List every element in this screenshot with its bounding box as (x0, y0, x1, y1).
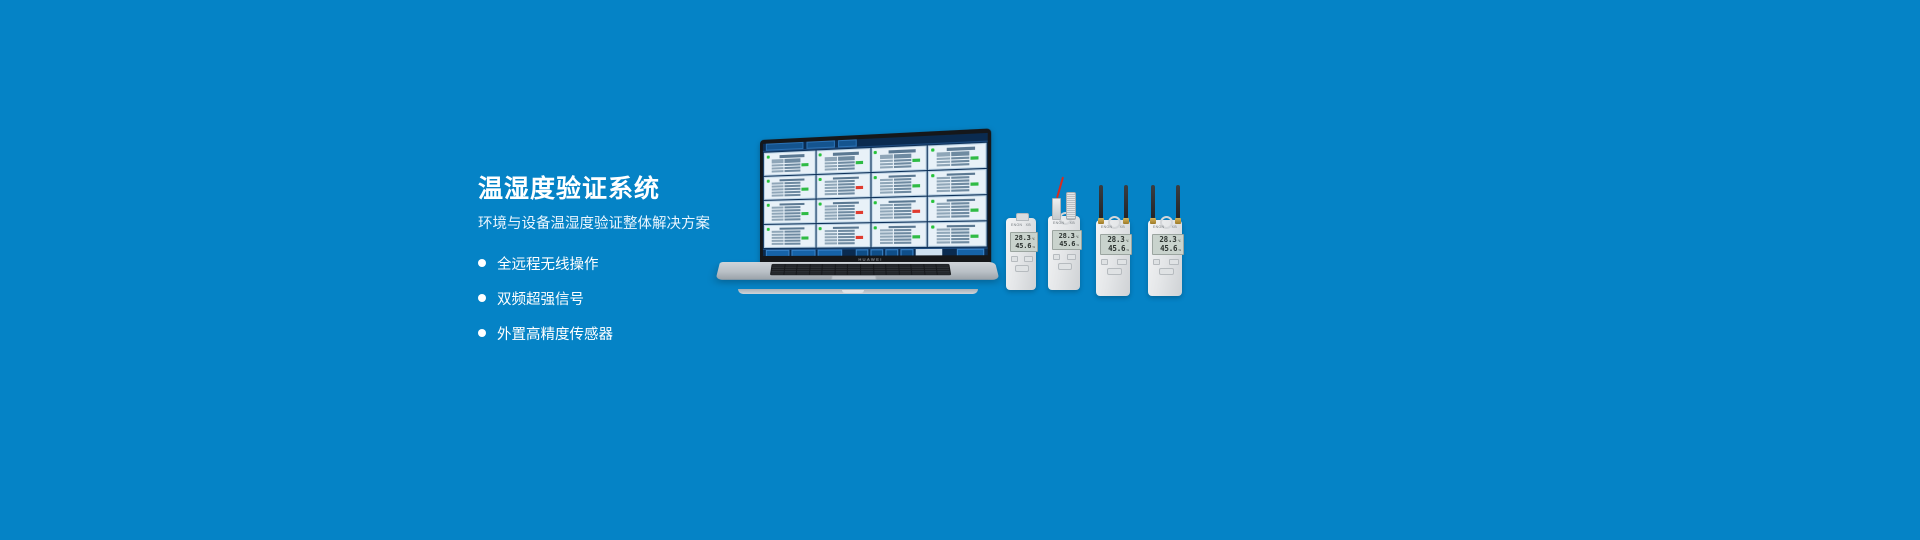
dual-antenna-logger-1[interactable]: ENON XB 28.3 ℃ 45.6 % (1096, 220, 1130, 296)
sensor-row-value (838, 239, 855, 241)
status-led-icon (766, 180, 769, 183)
keyboard-key[interactable] (912, 273, 924, 275)
status-led-icon (931, 148, 934, 151)
sensor-card-row (824, 236, 867, 239)
lcd-humidity-unit: % (1126, 249, 1129, 252)
sensor-card-row (937, 215, 984, 218)
sensor-card-row (937, 163, 984, 167)
status-badge (971, 235, 979, 238)
device-brand-right: XB (1026, 223, 1031, 227)
device-brand-right: XB (1172, 225, 1177, 229)
sensor-row-value (784, 237, 800, 239)
sensor-card-title (888, 226, 915, 229)
keyboard-key[interactable] (810, 273, 822, 275)
sensor-card-row (824, 242, 867, 244)
sensor-row-value (838, 193, 855, 196)
sensor-row-label (772, 219, 784, 221)
sensor-row-label (824, 193, 836, 195)
dual-antenna-logger-2[interactable]: ENON XB 28.3 ℃ 45.6 % (1148, 220, 1182, 296)
antenna-icon (1099, 185, 1103, 219)
sensor-row-label (879, 191, 892, 193)
sensor-card[interactable] (816, 223, 870, 247)
lcd-humidity-unit: % (1076, 244, 1079, 247)
sensor-card-row (937, 235, 984, 238)
sensor-row-label (772, 243, 784, 245)
sensor-row-value (951, 206, 969, 209)
sensor-row-label (879, 166, 892, 169)
sensor-row-value (951, 229, 969, 231)
sensor-row-label (879, 160, 892, 163)
lcd-temperature-line: 28.3 ℃ (1155, 235, 1181, 244)
device-button-right[interactable] (1169, 259, 1179, 265)
sensor-row-value (784, 243, 800, 245)
sensor-row-value (951, 232, 969, 234)
laptop-base (720, 262, 995, 296)
sensor-row-value (893, 207, 910, 209)
sensor-card[interactable] (764, 224, 815, 248)
device-lcd-display: 28.3 ℃ 45.6 % (1100, 234, 1132, 255)
sensor-card-row (879, 216, 924, 219)
sensor-row-label (937, 180, 950, 183)
device-brand-left: ENON (1153, 225, 1164, 229)
sensor-row-value (893, 165, 910, 168)
device-button-center[interactable] (1107, 268, 1122, 275)
lcd-temperature-line: 28.3 ℃ (1055, 232, 1079, 240)
sensor-row-label (879, 236, 892, 238)
sensor-row-value (893, 232, 910, 234)
status-led-icon (874, 201, 877, 204)
keyboard-key[interactable] (900, 273, 912, 275)
status-badge (912, 210, 920, 213)
sensor-row-label (772, 231, 784, 233)
sensor-card-row (772, 194, 814, 197)
status-led-icon (766, 204, 769, 207)
sensor-card-row (937, 189, 984, 192)
sensor-card-row (824, 217, 867, 220)
sensor-row-label (772, 164, 784, 166)
sensor-row-value (951, 241, 969, 243)
sensor-row-label (937, 235, 950, 237)
laptop-deck (716, 262, 1000, 280)
sensor-row-label (879, 182, 892, 185)
sensor-row-value (893, 210, 910, 212)
device-button-center[interactable] (1159, 268, 1174, 275)
device-button-left[interactable] (1153, 259, 1160, 265)
lcd-humidity-unit: % (1178, 249, 1181, 252)
device-brand-row: ENON XB (1148, 225, 1182, 229)
sensor-row-label (937, 164, 950, 167)
status-badge (855, 186, 862, 189)
sensor-row-label (879, 211, 892, 213)
toolbar-action-group[interactable] (838, 139, 857, 147)
sensor-card[interactable] (816, 198, 870, 223)
laptop-bezel (763, 133, 988, 256)
sensor-row-label (824, 168, 836, 171)
status-badge (912, 159, 920, 162)
sensor-row-value (784, 240, 800, 242)
device-button-center[interactable] (1058, 263, 1072, 270)
lcd-humidity-value: 45.6 (1108, 244, 1125, 253)
lcd-temperature-line: 28.3 ℃ (1013, 234, 1035, 242)
status-badge (971, 208, 979, 211)
sensor-card-row (937, 241, 984, 244)
sensor-row-label (772, 234, 784, 236)
device-button-left[interactable] (1053, 254, 1060, 260)
list-item: 外置高精度传感器 (478, 323, 818, 344)
device-brand-left: ENON (1011, 223, 1022, 227)
sensor-card-title (888, 200, 915, 203)
status-badge (801, 237, 808, 240)
sensor-row-value (951, 209, 969, 212)
lcd-temperature-unit: ℃ (1032, 238, 1035, 241)
device-brand-row: ENON XB (1006, 223, 1036, 227)
sensor-row-value (784, 234, 800, 236)
sensor-card-row (879, 235, 924, 238)
sensor-card[interactable] (871, 222, 927, 247)
sensor-row-label (824, 218, 836, 220)
sensor-row-value (893, 185, 910, 188)
sensor-row-label (879, 185, 892, 187)
sensor-row-label (937, 232, 950, 234)
status-led-icon (819, 178, 822, 181)
sensor-card-row (772, 236, 814, 239)
bullet-dot-icon (478, 259, 486, 267)
sensor-row-label (824, 240, 836, 242)
sensor-card-row (772, 243, 814, 245)
lcd-humidity-line: 45.6 % (1155, 244, 1181, 253)
keyboard-key[interactable] (797, 273, 809, 275)
keyboard-key[interactable] (887, 273, 899, 275)
sensor-row-label (824, 236, 836, 238)
keyboard-key[interactable] (771, 273, 783, 275)
sensor-row-label (937, 209, 950, 211)
sensor-row-value (838, 236, 855, 238)
lcd-temperature-value: 28.3 (1059, 232, 1075, 240)
sensor-row-value (784, 212, 800, 214)
device-brand-row: ENON XB (1096, 225, 1130, 229)
device-lcd-display: 28.3 ℃ 45.6 % (1010, 232, 1038, 252)
device-button-left[interactable] (1011, 256, 1018, 262)
sensor-row-value (893, 242, 910, 244)
sensor-card-row (772, 218, 814, 221)
status-badge (971, 156, 979, 159)
sensor-card[interactable] (871, 171, 927, 197)
sensor-card-row (772, 169, 814, 173)
status-badge (971, 182, 979, 185)
lcd-humidity-value: 45.6 (1015, 242, 1031, 250)
sensor-row-value (838, 211, 855, 213)
sensor-row-value (784, 209, 800, 211)
sensor-card-title (780, 227, 805, 230)
status-badge (855, 161, 862, 164)
sensor-card-title (946, 199, 974, 202)
lcd-humidity-line: 45.6 % (1103, 244, 1129, 253)
status-led-icon (874, 226, 877, 229)
lcd-humidity-line: 45.6 % (1013, 242, 1035, 250)
sensor-card[interactable] (816, 148, 870, 174)
status-led-icon (766, 156, 769, 159)
sensor-row-value (951, 215, 969, 217)
sensor-card[interactable] (928, 143, 986, 170)
sensor-row-label (824, 184, 836, 186)
bullet-dot-icon (478, 329, 486, 337)
sensor-row-label (937, 229, 950, 231)
sensor-card-row (824, 167, 867, 171)
sensor-row-label (937, 184, 950, 187)
device-brand-left: ENON (1101, 225, 1112, 229)
status-led-icon (931, 174, 934, 177)
sensor-row-label (937, 206, 950, 208)
sensor-row-label (772, 186, 784, 188)
lcd-temperature-unit: ℃ (1076, 236, 1079, 239)
sensor-card-title (833, 226, 859, 229)
laptop-illustration: HUAWEI (720, 140, 995, 300)
status-led-icon (819, 227, 822, 230)
sensor-row-value (784, 218, 800, 220)
status-led-icon (931, 200, 934, 203)
device-brand-left: ENON (1053, 221, 1064, 225)
laptop-trackpad[interactable] (831, 275, 876, 280)
sensor-row-label (772, 240, 784, 242)
sensor-row-value (784, 188, 800, 191)
status-led-icon (819, 153, 822, 156)
monitoring-app-screen (763, 133, 988, 256)
status-badge (801, 163, 808, 166)
sensor-row-label (937, 190, 950, 193)
status-badge (912, 235, 920, 238)
sensor-row-label (824, 209, 836, 211)
sensor-row-label (824, 233, 836, 235)
sensor-row-value (951, 189, 969, 192)
sensor-card-grid (763, 142, 988, 249)
sensor-device-group: ENON XB 28.3 ℃ 45.6 % ENON (1000, 180, 1230, 310)
status-led-icon (819, 202, 822, 205)
sensor-row-value (784, 194, 800, 196)
device-button-left[interactable] (1101, 259, 1108, 265)
lcd-temperature-unit: ℃ (1178, 240, 1181, 243)
lcd-temperature-line: 28.3 ℃ (1103, 235, 1129, 244)
sensor-row-label (879, 230, 892, 232)
lcd-temperature-value: 28.3 (1107, 235, 1124, 244)
sensor-card[interactable] (764, 175, 815, 200)
device-lcd-display: 28.3 ℃ 45.6 % (1152, 234, 1184, 255)
sensor-card[interactable] (764, 151, 815, 176)
sensor-row-value (838, 233, 855, 235)
sensor-card[interactable] (928, 169, 986, 196)
device-lcd-display: 28.3 ℃ 45.6 % (1052, 230, 1082, 250)
status-led-icon (874, 176, 877, 179)
status-led-icon (931, 225, 934, 228)
keyboard-key[interactable] (784, 273, 796, 275)
sensor-row-label (824, 187, 836, 189)
feature-label: 双频超强信号 (497, 288, 584, 309)
sensor-row-value (838, 168, 855, 171)
lcd-temperature-value: 28.3 (1015, 234, 1031, 242)
lcd-humidity-value: 45.6 (1059, 240, 1075, 248)
sensor-card-row (879, 242, 924, 244)
sensor-card-title (946, 225, 974, 228)
keyboard-key[interactable] (925, 273, 937, 275)
feature-label: 全远程无线操作 (497, 253, 599, 274)
sensor-row-value (951, 183, 969, 186)
sensor-row-label (772, 210, 784, 212)
sensor-row-label (879, 233, 892, 235)
laptop-keyboard[interactable] (770, 264, 951, 275)
sensor-row-label (879, 242, 892, 244)
sensor-card[interactable] (764, 200, 815, 224)
device-button-right[interactable] (1067, 254, 1076, 260)
device-button-center[interactable] (1015, 265, 1029, 272)
sensor-row-label (937, 216, 950, 218)
sensor-row-label (937, 238, 950, 240)
sensor-row-value (838, 217, 855, 219)
sensor-card-row (824, 192, 867, 195)
external-probe-logger[interactable]: ENON XB 28.3 ℃ 45.6 % (1048, 216, 1080, 290)
bullet-dot-icon (478, 294, 486, 302)
sensor-card[interactable] (871, 145, 927, 172)
sensor-card[interactable] (928, 221, 986, 246)
sensor-row-value (951, 238, 969, 240)
probe-sensor-mesh (1066, 192, 1076, 220)
sensor-row-label (772, 195, 784, 197)
device-hanger (1016, 213, 1029, 221)
lcd-temperature-value: 28.3 (1159, 235, 1176, 244)
sensor-row-label (879, 239, 892, 241)
wireless-temp-humidity-logger[interactable]: ENON XB 28.3 ℃ 45.6 % (1006, 218, 1036, 290)
sensor-row-label (824, 212, 836, 214)
toolbar-filter-group[interactable] (806, 140, 835, 149)
sensor-row-value (784, 170, 800, 173)
sensor-row-label (937, 241, 950, 243)
sensor-card[interactable] (871, 197, 927, 222)
sensor-row-label (824, 162, 836, 165)
device-brand-row: ENON XB (1048, 221, 1080, 225)
sensor-row-value (951, 235, 969, 237)
antenna-icon (1151, 185, 1155, 219)
status-led-icon (766, 228, 769, 231)
sensor-row-value (893, 236, 910, 238)
probe-cable (1056, 177, 1064, 199)
sensor-row-value (838, 242, 855, 244)
feature-label: 外置高精度传感器 (497, 323, 613, 344)
lcd-humidity-line: 45.6 % (1055, 240, 1079, 248)
sensor-row-value (893, 216, 910, 218)
sensor-row-label (879, 207, 892, 209)
device-button-right[interactable] (1024, 256, 1033, 262)
status-badge (912, 184, 920, 187)
sensor-card[interactable] (816, 173, 870, 198)
antenna-icon (1124, 185, 1128, 219)
sensor-row-value (893, 191, 910, 194)
status-badge (801, 188, 808, 191)
hero-banner: 温湿度验证系统 环境与设备温湿度验证整体解决方案 全远程无线操作 双频超强信号 … (0, 0, 1920, 540)
probe-connector (1052, 198, 1061, 220)
sensor-row-label (772, 213, 784, 215)
sensor-row-value (951, 163, 969, 166)
lcd-humidity-value: 45.6 (1160, 244, 1177, 253)
sensor-card[interactable] (928, 195, 986, 221)
sensor-row-label (824, 230, 836, 232)
laptop-lid: HUAWEI (760, 128, 991, 265)
sensor-row-value (838, 186, 855, 189)
sensor-row-label (879, 217, 892, 219)
status-badge (855, 211, 862, 214)
sensor-row-label (772, 237, 784, 239)
sensor-row-value (893, 239, 910, 241)
sensor-row-label (937, 158, 950, 161)
status-badge (855, 236, 862, 239)
lcd-temperature-unit: ℃ (1126, 240, 1129, 243)
sensor-card-row (879, 191, 924, 194)
sensor-row-value (838, 208, 855, 210)
device-button-right[interactable] (1117, 259, 1127, 265)
lcd-humidity-unit: % (1032, 246, 1035, 249)
status-badge (801, 212, 808, 215)
sensor-row-label (824, 242, 836, 244)
device-brand-right: XB (1070, 221, 1075, 225)
status-led-icon (874, 151, 877, 154)
keyboard-key[interactable] (938, 273, 950, 275)
antenna-icon (1176, 185, 1180, 219)
sensor-card-row (879, 165, 924, 169)
laptop-open-notch (842, 290, 864, 293)
sensor-row-label (772, 170, 784, 172)
device-brand-right: XB (1120, 225, 1125, 229)
sensor-row-label (772, 189, 784, 191)
